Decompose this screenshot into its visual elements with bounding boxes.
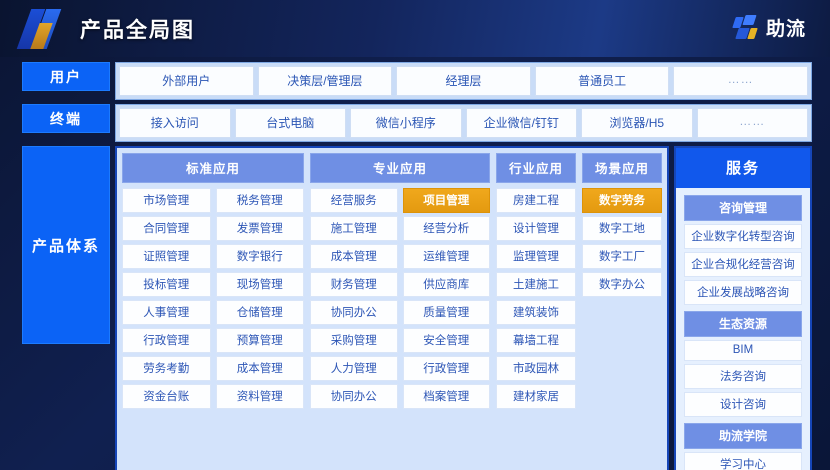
terminal-chip-0[interactable]: 接入访问: [119, 108, 231, 138]
terminal-chip-4[interactable]: 浏览器/H5: [581, 108, 693, 138]
group-header-scenario: 场景应用: [582, 153, 662, 183]
brand-name: 助流: [766, 14, 806, 41]
app-cell[interactable]: 人事管理: [122, 300, 211, 325]
app-cell[interactable]: 成本管理: [216, 356, 305, 381]
app-cell[interactable]: 质量管理: [403, 300, 491, 325]
app-cell[interactable]: 数字工厂: [582, 244, 662, 269]
column-professional-1: 项目管理经营分析运维管理供应商库质量管理安全管理行政管理档案管理: [403, 188, 491, 470]
app-cell[interactable]: 财务管理: [310, 272, 398, 297]
page-title: 产品全局图: [80, 14, 195, 44]
band-label-product-system: 产品体系: [22, 146, 110, 344]
app-cell[interactable]: 幕墙工程: [496, 328, 576, 353]
zhuliu-lightning-logo-icon: [733, 15, 759, 41]
service-panel-title: 服务: [676, 148, 810, 188]
app-cell[interactable]: 房建工程: [496, 188, 576, 213]
app-cell[interactable]: 预算管理: [216, 328, 305, 353]
app-cell[interactable]: 协同办公: [310, 300, 398, 325]
user-chip-0[interactable]: 外部用户: [119, 66, 254, 96]
user-chip-4[interactable]: ……: [673, 66, 808, 96]
column-industry-0: 房建工程设计管理监理管理土建施工建筑装饰幕墙工程市政园林建材家居: [496, 188, 576, 470]
service-item[interactable]: BIM: [684, 340, 802, 361]
group-columns-professional: 经营服务施工管理成本管理财务管理协同办公采购管理人力管理协同办公项目管理经营分析…: [310, 188, 490, 470]
service-group-header: 生态资源: [684, 311, 802, 337]
service-group: 生态资源BIM法务咨询设计咨询: [684, 311, 802, 417]
app-cell[interactable]: 建材家居: [496, 384, 576, 409]
band-product-system: 产品体系 标准应用市场管理合同管理证照管理投标管理人事管理行政管理劳务考勤资金台…: [22, 146, 812, 470]
app-cell[interactable]: 合同管理: [122, 216, 211, 241]
app-cell[interactable]: 供应商库: [403, 272, 491, 297]
service-item[interactable]: 企业发展战略咨询: [684, 280, 802, 305]
brand-lockup: 助流: [733, 14, 806, 41]
app-cell[interactable]: 市场管理: [122, 188, 211, 213]
user-chip-1[interactable]: 决策层/管理层: [258, 66, 393, 96]
column-standard-1: 税务管理发票管理数字银行现场管理仓储管理预算管理成本管理资料管理: [216, 188, 305, 470]
app-cell-selected[interactable]: 项目管理: [403, 188, 491, 213]
app-cell[interactable]: 施工管理: [310, 216, 398, 241]
app-cell-selected[interactable]: 数字劳务: [582, 188, 662, 213]
service-item[interactable]: 企业合规化经营咨询: [684, 252, 802, 277]
app-cell[interactable]: 数字工地: [582, 216, 662, 241]
app-cell[interactable]: 人力管理: [310, 356, 398, 381]
column-professional-0: 经营服务施工管理成本管理财务管理协同办公采购管理人力管理协同办公: [310, 188, 398, 470]
terminal-chip-2[interactable]: 微信小程序: [350, 108, 462, 138]
group-header-standard: 标准应用: [122, 153, 304, 183]
users-chip-row: 外部用户决策层/管理层经理层普通员工……: [115, 62, 812, 100]
app-cell[interactable]: 监理管理: [496, 244, 576, 269]
app-cell[interactable]: 档案管理: [403, 384, 491, 409]
user-chip-2[interactable]: 经理层: [396, 66, 531, 96]
service-item[interactable]: 设计咨询: [684, 392, 802, 417]
column-scenario-0: 数字劳务数字工地数字工厂数字办公: [582, 188, 662, 470]
app-cell[interactable]: 劳务考勤: [122, 356, 211, 381]
terminal-chip-3[interactable]: 企业微信/钉钉: [466, 108, 578, 138]
app-cell[interactable]: 成本管理: [310, 244, 398, 269]
app-cell[interactable]: 数字办公: [582, 272, 662, 297]
app-cell[interactable]: 运维管理: [403, 244, 491, 269]
group-professional: 专业应用经营服务施工管理成本管理财务管理协同办公采购管理人力管理协同办公项目管理…: [310, 153, 490, 470]
app-cell[interactable]: 数字银行: [216, 244, 305, 269]
app-cell[interactable]: 行政管理: [122, 328, 211, 353]
app-cell[interactable]: 证照管理: [122, 244, 211, 269]
app-cell[interactable]: 税务管理: [216, 188, 305, 213]
brand-parallelogram-logo-icon: [22, 9, 68, 49]
column-standard-0: 市场管理合同管理证照管理投标管理人事管理行政管理劳务考勤资金台账: [122, 188, 211, 470]
page-header: 产品全局图 助流: [0, 0, 830, 57]
service-item[interactable]: 学习中心: [684, 452, 802, 470]
band-users: 用户 外部用户决策层/管理层经理层普通员工……: [22, 62, 812, 100]
panel-product-system: 标准应用市场管理合同管理证照管理投标管理人事管理行政管理劳务考勤资金台账税务管理…: [115, 146, 669, 470]
app-cell[interactable]: 行政管理: [403, 356, 491, 381]
group-header-professional: 专业应用: [310, 153, 490, 183]
app-cell[interactable]: 发票管理: [216, 216, 305, 241]
app-cell[interactable]: 资金台账: [122, 384, 211, 409]
app-cell[interactable]: 投标管理: [122, 272, 211, 297]
group-columns-scenario: 数字劳务数字工地数字工厂数字办公: [582, 188, 662, 470]
app-cell[interactable]: 建筑装饰: [496, 300, 576, 325]
terminal-chip-5[interactable]: ……: [697, 108, 809, 138]
group-columns-standard: 市场管理合同管理证照管理投标管理人事管理行政管理劳务考勤资金台账税务管理发票管理…: [122, 188, 304, 470]
band-terminal: 终端 接入访问台式电脑微信小程序企业微信/钉钉浏览器/H5……: [22, 104, 812, 142]
app-cell[interactable]: 采购管理: [310, 328, 398, 353]
group-industry: 行业应用房建工程设计管理监理管理土建施工建筑装饰幕墙工程市政园林建材家居: [496, 153, 576, 470]
app-cell[interactable]: 经营分析: [403, 216, 491, 241]
service-group-header: 助流学院: [684, 423, 802, 449]
app-cell[interactable]: 仓储管理: [216, 300, 305, 325]
band-label-terminal: 终端: [22, 104, 110, 133]
service-item[interactable]: 企业数字化转型咨询: [684, 224, 802, 249]
app-cell[interactable]: 设计管理: [496, 216, 576, 241]
app-cell[interactable]: 市政园林: [496, 356, 576, 381]
app-cell[interactable]: 土建施工: [496, 272, 576, 297]
group-standard: 标准应用市场管理合同管理证照管理投标管理人事管理行政管理劳务考勤资金台账税务管理…: [122, 153, 304, 470]
terminal-chip-1[interactable]: 台式电脑: [235, 108, 347, 138]
service-group-header: 咨询管理: [684, 195, 802, 221]
app-cell[interactable]: 资料管理: [216, 384, 305, 409]
band-label-users: 用户: [22, 62, 110, 91]
architecture-diagram: 用户 外部用户决策层/管理层经理层普通员工…… 终端 接入访问台式电脑微信小程序…: [22, 62, 812, 470]
app-cell[interactable]: 安全管理: [403, 328, 491, 353]
app-cell[interactable]: 协同办公: [310, 384, 398, 409]
service-group: 咨询管理企业数字化转型咨询企业合规化经营咨询企业发展战略咨询: [684, 195, 802, 305]
app-cell[interactable]: 现场管理: [216, 272, 305, 297]
user-chip-3[interactable]: 普通员工: [535, 66, 670, 96]
panel-service: 服务 咨询管理企业数字化转型咨询企业合规化经营咨询企业发展战略咨询生态资源BIM…: [674, 146, 812, 470]
service-group: 助流学院学习中心认证中心资料/干货/白皮书: [684, 423, 802, 470]
terminal-chip-row: 接入访问台式电脑微信小程序企业微信/钉钉浏览器/H5……: [115, 104, 812, 142]
service-item[interactable]: 法务咨询: [684, 364, 802, 389]
group-scenario: 场景应用数字劳务数字工地数字工厂数字办公: [582, 153, 662, 470]
group-columns-industry: 房建工程设计管理监理管理土建施工建筑装饰幕墙工程市政园林建材家居: [496, 188, 576, 470]
group-header-industry: 行业应用: [496, 153, 576, 183]
app-cell[interactable]: 经营服务: [310, 188, 398, 213]
